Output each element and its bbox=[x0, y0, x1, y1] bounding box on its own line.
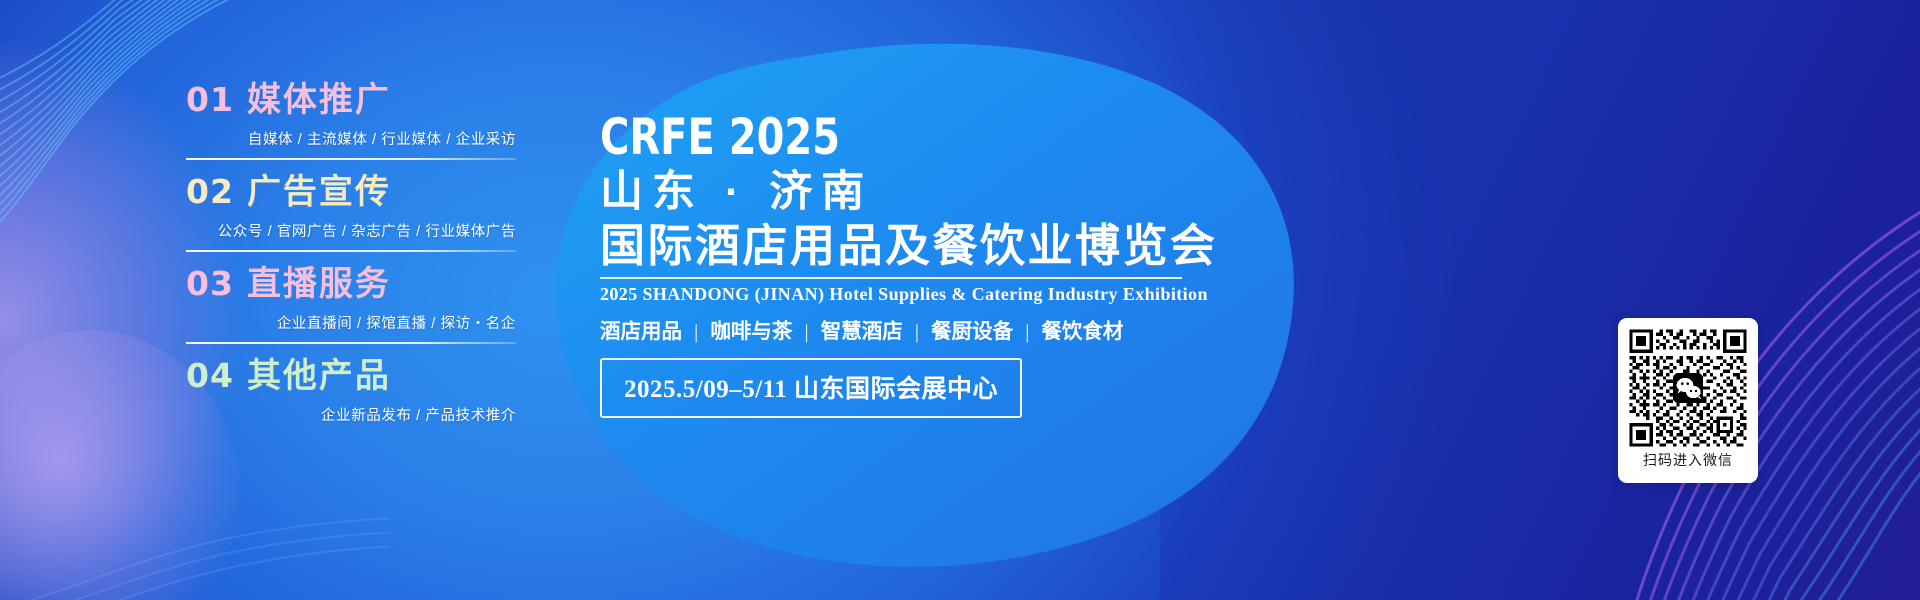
category-3: 餐厨设备 bbox=[931, 321, 1013, 343]
service-subtitle: 自媒体 / 主流媒体 / 行业媒体 / 企业采访 bbox=[186, 128, 516, 149]
event-title: 国际酒店用品及餐饮业博览会 bbox=[600, 221, 1220, 271]
category-2: 智慧酒店 bbox=[821, 321, 903, 343]
date-venue-box: 2025.5/09–5/11 山东国际会展中心 bbox=[600, 358, 1022, 418]
category-separator: | bbox=[797, 321, 815, 344]
service-title: 其他产品 bbox=[247, 348, 391, 397]
service-number: 01 bbox=[186, 80, 234, 119]
title-rule bbox=[600, 277, 1182, 279]
event-info-block: CRFE 2025 山东 · 济南 国际酒店用品及餐饮业博览会 2025 SHA… bbox=[600, 112, 1220, 418]
event-title-english: 2025 SHANDONG (JINAN) Hotel Supplies & C… bbox=[600, 284, 1220, 305]
service-item-01[interactable]: 01 媒体推广 自媒体 / 主流媒体 / 行业媒体 / 企业采访 bbox=[186, 72, 516, 164]
service-subtitle: 企业新品发布 / 产品技术推介 bbox=[186, 404, 516, 425]
service-title: 广告宣传 bbox=[247, 164, 391, 213]
qr-code-image[interactable] bbox=[1626, 326, 1750, 450]
service-item-03[interactable]: 03 直播服务 企业直播间 / 探馆直播 / 探访・名企 bbox=[186, 256, 516, 348]
services-list: 01 媒体推广 自媒体 / 主流媒体 / 行业媒体 / 企业采访 02 广告宣传… bbox=[186, 72, 516, 440]
banner-stage: 01 媒体推广 自媒体 / 主流媒体 / 行业媒体 / 企业采访 02 广告宣传… bbox=[0, 0, 1920, 600]
deep-blue-right-overlay bbox=[1160, 0, 1920, 600]
service-number: 03 bbox=[186, 264, 234, 303]
event-categories: 酒店用品 | 咖啡与茶 | 智慧酒店 | 餐厨设备 | 餐饮食材 bbox=[600, 314, 1220, 344]
wechat-qr-card[interactable]: 扫码进入微信 bbox=[1618, 318, 1758, 483]
service-item-02[interactable]: 02 广告宣传 公众号 / 官网广告 / 杂志广告 / 行业媒体广告 bbox=[186, 164, 516, 256]
service-item-04[interactable]: 04 其他产品 企业新品发布 / 产品技术推介 bbox=[186, 348, 516, 440]
qr-caption: 扫码进入微信 bbox=[1643, 453, 1733, 467]
date-venue-text: 2025.5/09–5/11 山东国际会展中心 bbox=[624, 369, 998, 405]
event-city: 山东 · 济南 bbox=[600, 170, 1220, 215]
service-title: 媒体推广 bbox=[247, 72, 391, 121]
service-number: 04 bbox=[186, 356, 234, 395]
service-subtitle: 企业直播间 / 探馆直播 / 探访・名企 bbox=[186, 312, 516, 333]
service-divider bbox=[186, 250, 516, 252]
category-separator: | bbox=[908, 321, 926, 344]
service-subtitle: 公众号 / 官网广告 / 杂志广告 / 行业媒体广告 bbox=[186, 220, 516, 241]
category-separator: | bbox=[687, 321, 705, 344]
service-title: 直播服务 bbox=[247, 256, 391, 305]
category-separator: | bbox=[1018, 321, 1036, 344]
wechat-icon bbox=[1673, 373, 1703, 403]
category-4: 餐饮食材 bbox=[1041, 321, 1123, 343]
service-divider bbox=[186, 342, 516, 344]
service-divider bbox=[186, 158, 516, 160]
event-brand: CRFE 2025 bbox=[600, 112, 1096, 162]
category-1: 咖啡与茶 bbox=[710, 321, 792, 343]
service-number: 02 bbox=[186, 172, 234, 211]
category-0: 酒店用品 bbox=[600, 321, 682, 343]
